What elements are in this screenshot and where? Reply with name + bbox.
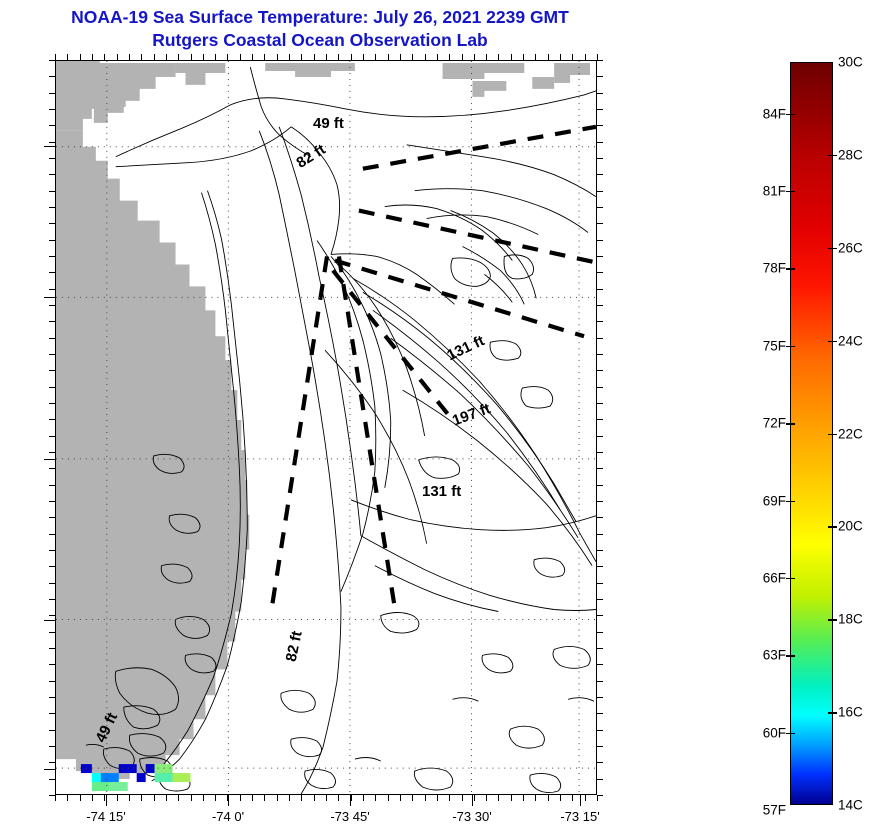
y-tick-minor xyxy=(597,93,603,94)
y-tick-minor xyxy=(597,321,603,322)
colorbar-label-celsius: 20C xyxy=(838,519,863,534)
y-tick-minor xyxy=(597,762,603,763)
y-tick-minor xyxy=(597,468,603,469)
y-tick-minor xyxy=(597,191,603,192)
x-tick-major xyxy=(472,795,473,806)
y-tick-minor xyxy=(597,158,603,159)
map-canvas xyxy=(56,61,596,794)
y-tick-minor xyxy=(597,240,603,241)
x-tick-minor xyxy=(191,795,192,801)
colorbar-tick-left xyxy=(786,578,795,579)
x-axis-label: -73 15' xyxy=(560,809,599,824)
colorbar-gradient xyxy=(790,62,833,805)
colorbar-tick-right xyxy=(828,248,837,249)
x-tick-minor xyxy=(80,795,81,801)
y-tick-minor xyxy=(597,648,603,649)
colorbar-label-celsius: 22C xyxy=(838,426,863,441)
colorbar-label-fahrenheit: 63F xyxy=(763,648,786,663)
colorbar-tick-left xyxy=(786,346,795,347)
title-line-1: NOAA-19 Sea Surface Temperature: July 26… xyxy=(0,6,640,29)
x-tick-minor xyxy=(227,795,228,801)
x-tick-minor xyxy=(412,795,413,801)
x-tick-minor xyxy=(240,795,241,801)
y-tick-minor xyxy=(597,223,603,224)
x-tick-major xyxy=(580,795,581,806)
y-tick-minor xyxy=(597,746,603,747)
colorbar-label-fahrenheit: 57F xyxy=(763,803,786,818)
colorbar-tick-right xyxy=(828,526,837,527)
colorbar-tick-left xyxy=(786,733,795,734)
colorbar-tick-left xyxy=(786,501,795,502)
y-tick-minor xyxy=(597,697,603,698)
y-tick-minor xyxy=(597,256,603,257)
x-tick-minor xyxy=(277,795,278,801)
x-tick-minor xyxy=(301,795,302,801)
map-plot-area[interactable]: 49 ft 82 ft 131 ft 197 ft 131 ft 82 ft 4… xyxy=(55,60,597,795)
y-tick-minor xyxy=(597,305,603,306)
x-tick-minor xyxy=(498,795,499,801)
y-tick-minor xyxy=(597,632,603,633)
colorbar-label-celsius: 18C xyxy=(838,612,863,627)
colorbar-label-fahrenheit: 72F xyxy=(763,416,786,431)
colorbar-tick-left xyxy=(786,423,795,424)
transect-se-1 xyxy=(333,270,453,420)
land-mask-layer xyxy=(56,61,590,783)
transect-lines-layer xyxy=(271,127,596,612)
y-tick-minor xyxy=(597,681,603,682)
y-tick-minor xyxy=(597,76,603,77)
colorbar[interactable] xyxy=(790,62,833,805)
y-tick-minor xyxy=(597,779,603,780)
colorbar-label-fahrenheit: 78F xyxy=(763,261,786,276)
x-tick-minor xyxy=(375,795,376,801)
x-tick-minor xyxy=(154,795,155,801)
x-tick-minor xyxy=(511,795,512,801)
y-tick-minor xyxy=(597,125,603,126)
x-tick-minor xyxy=(462,795,463,801)
colorbar-label-fahrenheit: 66F xyxy=(763,570,786,585)
x-tick-major xyxy=(350,795,351,806)
colorbar-label-fahrenheit: 60F xyxy=(763,725,786,740)
x-tick-minor xyxy=(117,795,118,801)
colorbar-label-celsius: 24C xyxy=(838,333,863,348)
y-tick-minor xyxy=(597,485,603,486)
x-axis-label: -73 30' xyxy=(452,809,491,824)
colorbar-label-celsius: 30C xyxy=(838,55,863,70)
colorbar-tick-left xyxy=(786,655,795,656)
x-tick-minor xyxy=(141,795,142,801)
x-tick-minor xyxy=(178,795,179,801)
x-tick-minor xyxy=(203,795,204,801)
y-tick-minor xyxy=(597,370,603,371)
x-tick-minor xyxy=(560,795,561,801)
y-tick-minor xyxy=(597,534,603,535)
colorbar-tick-right xyxy=(828,341,837,342)
x-tick-minor xyxy=(264,795,265,801)
y-tick-minor xyxy=(597,566,603,567)
page-title: NOAA-19 Sea Surface Temperature: July 26… xyxy=(0,6,640,52)
x-tick-minor xyxy=(67,795,68,801)
title-line-2: Rutgers Coastal Ocean Observation Lab xyxy=(0,29,640,52)
x-axis-label: -73 45' xyxy=(330,809,369,824)
colorbar-label-celsius: 14C xyxy=(838,798,863,813)
x-tick-minor xyxy=(363,795,364,801)
y-tick-major xyxy=(44,146,55,147)
x-tick-major xyxy=(228,795,229,806)
y-tick-minor xyxy=(597,354,603,355)
x-tick-minor xyxy=(338,795,339,801)
colorbar-label-celsius: 28C xyxy=(838,147,863,162)
x-tick-minor xyxy=(523,795,524,801)
y-tick-minor xyxy=(597,615,603,616)
x-tick-minor xyxy=(400,795,401,801)
x-axis-label: -74 0' xyxy=(212,809,244,824)
y-tick-major xyxy=(44,769,55,770)
y-tick-minor xyxy=(597,272,603,273)
y-tick-major xyxy=(44,620,55,621)
y-tick-minor xyxy=(597,583,603,584)
x-tick-minor xyxy=(585,795,586,801)
x-tick-minor xyxy=(351,795,352,801)
x-tick-minor xyxy=(474,795,475,801)
y-tick-minor xyxy=(597,436,603,437)
y-tick-minor xyxy=(597,795,603,796)
x-tick-minor xyxy=(252,795,253,801)
colorbar-label-fahrenheit: 69F xyxy=(763,493,786,508)
x-tick-minor xyxy=(55,795,56,801)
x-tick-minor xyxy=(314,795,315,801)
x-tick-minor xyxy=(548,795,549,801)
y-tick-minor xyxy=(597,174,603,175)
y-tick-minor xyxy=(597,60,603,61)
y-tick-minor xyxy=(49,795,55,796)
x-tick-minor xyxy=(597,795,598,801)
x-tick-minor xyxy=(388,795,389,801)
colorbar-tick-right xyxy=(828,155,837,156)
y-tick-minor xyxy=(597,550,603,551)
x-tick-minor xyxy=(289,795,290,801)
x-tick-minor xyxy=(572,795,573,801)
y-tick-minor xyxy=(597,338,603,339)
x-axis-label: -74 15' xyxy=(86,809,125,824)
y-tick-minor xyxy=(597,713,603,714)
x-tick-minor xyxy=(129,795,130,801)
y-tick-minor xyxy=(597,501,603,502)
x-tick-minor xyxy=(215,795,216,801)
x-tick-minor xyxy=(166,795,167,801)
x-tick-minor xyxy=(326,795,327,801)
colorbar-tick-right xyxy=(828,712,837,713)
x-tick-minor xyxy=(449,795,450,801)
y-tick-major xyxy=(44,297,55,298)
colorbar-label-fahrenheit: 75F xyxy=(763,338,786,353)
x-tick-major xyxy=(106,795,107,806)
y-tick-minor xyxy=(597,109,603,110)
y-tick-minor xyxy=(597,419,603,420)
colorbar-label-celsius: 26C xyxy=(838,240,863,255)
sst-map-page: NOAA-19 Sea Surface Temperature: July 26… xyxy=(0,0,872,832)
y-tick-minor xyxy=(597,403,603,404)
y-tick-minor xyxy=(597,517,603,518)
x-tick-minor xyxy=(535,795,536,801)
y-tick-minor xyxy=(597,664,603,665)
transect-vert-1 xyxy=(271,256,327,611)
colorbar-tick-right xyxy=(828,619,837,620)
colorbar-tick-left xyxy=(786,114,795,115)
colorbar-label-fahrenheit: 81F xyxy=(763,183,786,198)
y-tick-major xyxy=(44,459,55,460)
transect-ne-1 xyxy=(363,127,596,169)
colorbar-tick-left xyxy=(786,191,795,192)
x-tick-minor xyxy=(425,795,426,801)
x-tick-minor xyxy=(104,795,105,801)
colorbar-label-fahrenheit: 84F xyxy=(763,106,786,121)
x-tick-minor xyxy=(92,795,93,801)
y-tick-minor xyxy=(597,142,603,143)
y-tick-minor xyxy=(597,730,603,731)
x-tick-minor xyxy=(597,54,598,60)
y-tick-minor xyxy=(597,452,603,453)
y-tick-minor xyxy=(597,289,603,290)
x-tick-minor xyxy=(486,795,487,801)
depth-label-131ft-low: 131 ft xyxy=(422,483,461,500)
y-tick-minor xyxy=(597,207,603,208)
colorbar-tick-left xyxy=(786,268,795,269)
y-tick-minor xyxy=(597,599,603,600)
y-tick-minor xyxy=(597,387,603,388)
colorbar-tick-right xyxy=(828,434,837,435)
x-tick-minor xyxy=(437,795,438,801)
colorbar-label-celsius: 16C xyxy=(838,705,863,720)
depth-label-49ft-top: 49 ft xyxy=(313,115,344,132)
